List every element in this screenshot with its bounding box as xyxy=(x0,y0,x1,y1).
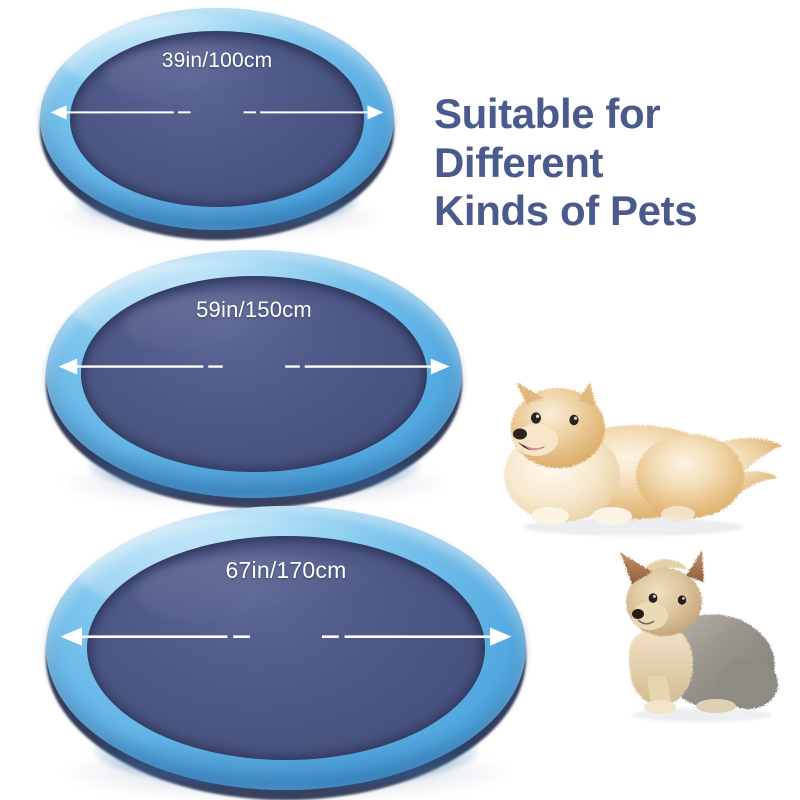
yorkshire-terrier-dog xyxy=(598,548,798,726)
pomeranian-dog xyxy=(466,380,796,540)
pool-medium[interactable]: 59in/150cm xyxy=(46,250,462,498)
pool-small[interactable]: 39in/100cm xyxy=(40,8,394,230)
pool-large[interactable]: 67in/170cm xyxy=(46,506,526,790)
headline-line-3: Kinds of Pets xyxy=(434,187,697,236)
dimension-arrow-medium xyxy=(46,250,462,498)
dimension-arrow-large xyxy=(46,506,526,790)
dimension-arrow-small xyxy=(40,8,394,230)
infographic-canvas: 39in/100cm 59in/150cm 67in/170cm xyxy=(0,0,800,800)
page-title: Suitable for Different Kinds of Pets xyxy=(434,90,697,236)
headline-line-2: Different xyxy=(434,139,697,188)
headline-line-1: Suitable for xyxy=(434,90,697,139)
